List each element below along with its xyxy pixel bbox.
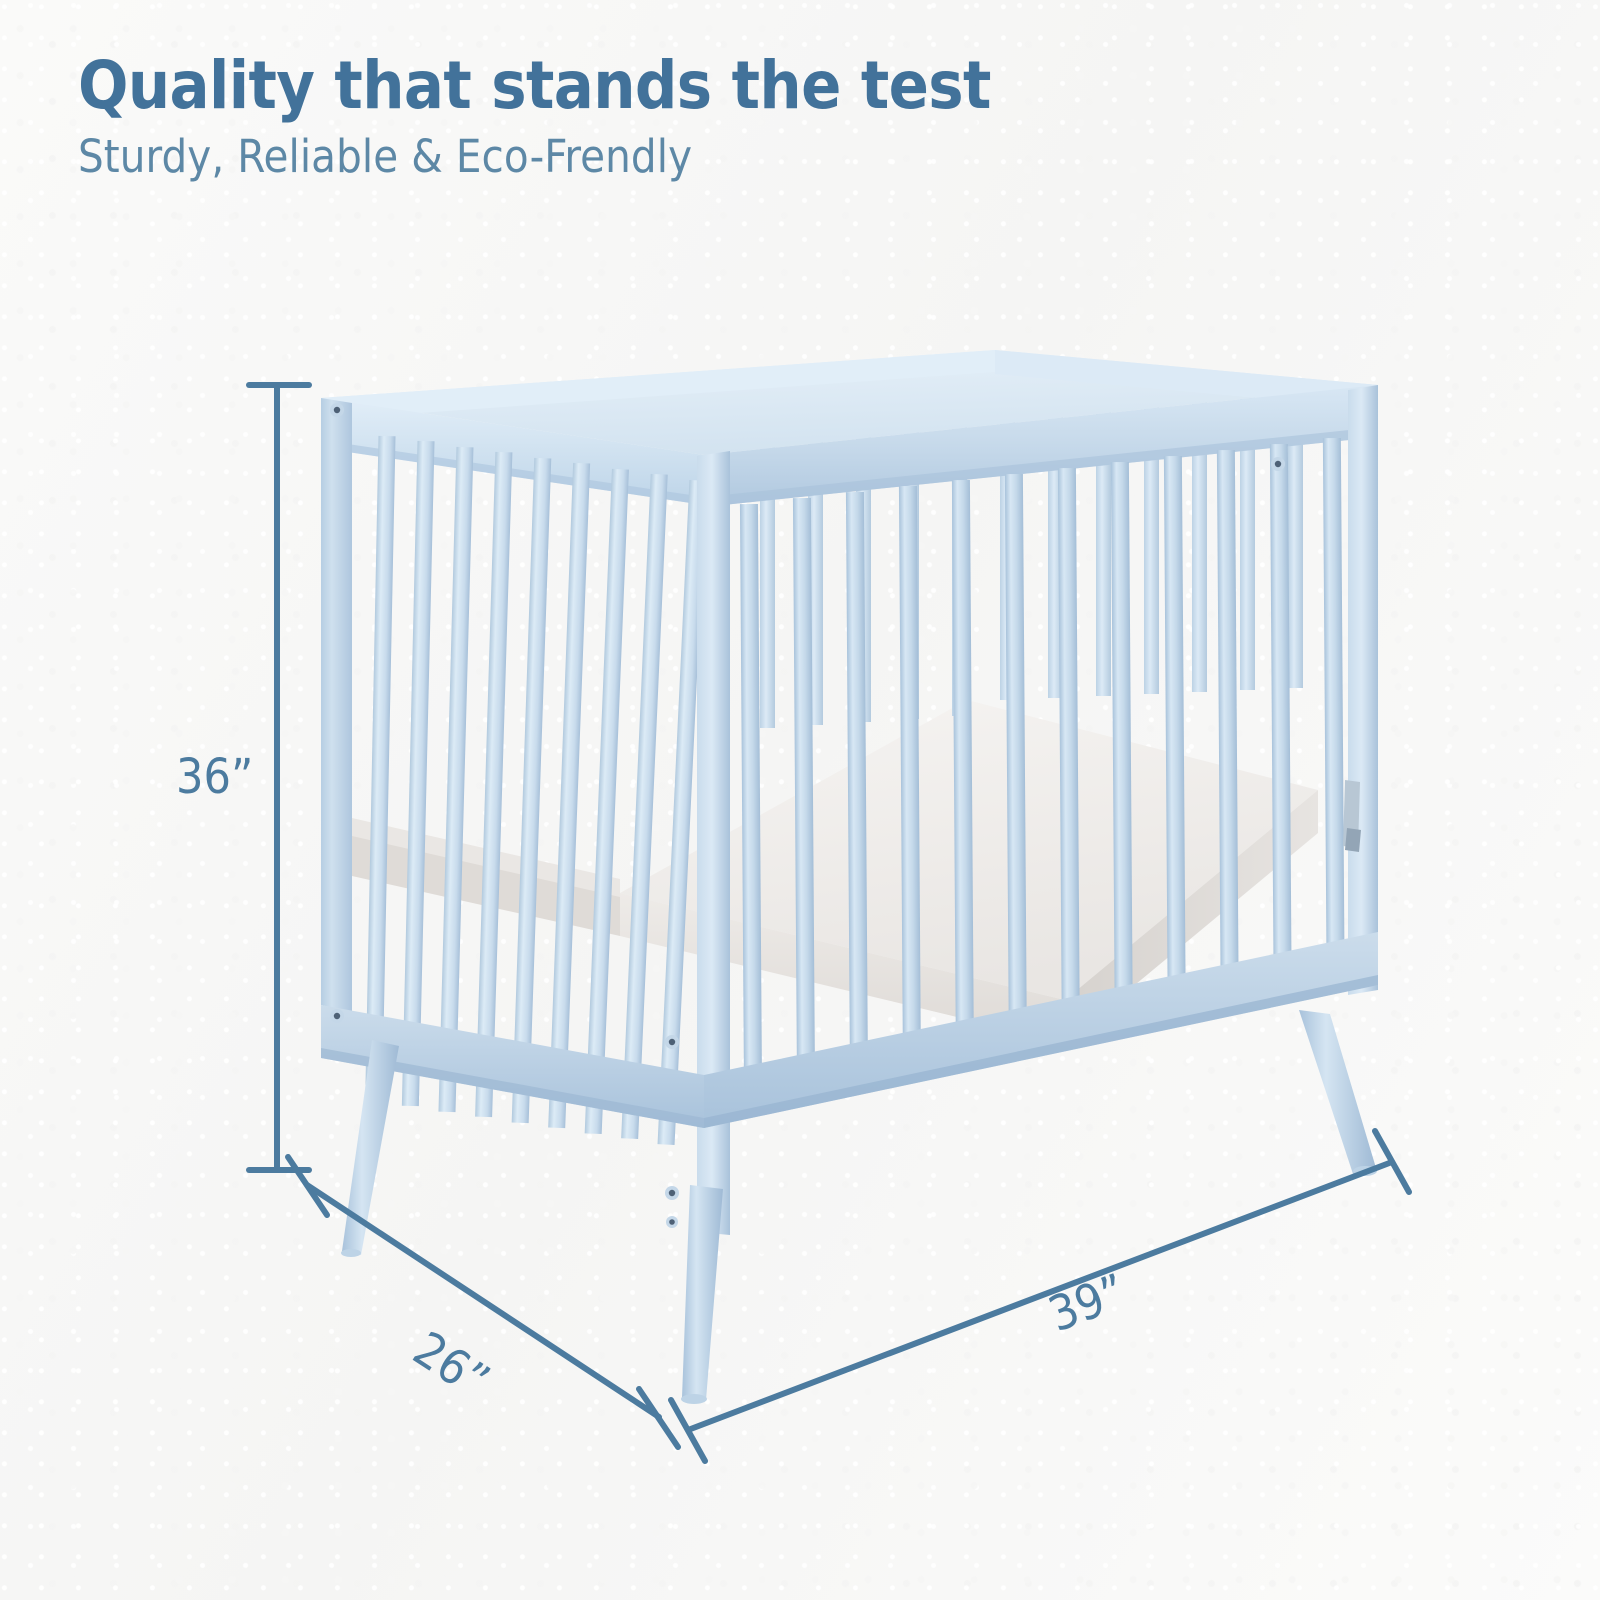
leg-rear-left — [342, 1040, 399, 1255]
dimension-width-39 — [671, 1131, 1409, 1461]
dimension-label-depth: 26” — [403, 1321, 498, 1410]
dimension-label-width: 39” — [1041, 1263, 1133, 1343]
dimension-height-36 — [249, 385, 309, 1170]
dimension-label-height: 36” — [176, 749, 253, 805]
product-illustration-stage: 36” 26” 39” — [0, 0, 1600, 1600]
dimension-depth-26 — [288, 1157, 678, 1447]
post-far-right — [1348, 385, 1378, 995]
post-far-left — [321, 398, 352, 1012]
leg-front-centre — [682, 1185, 723, 1400]
leg-rear-right — [1299, 1010, 1376, 1174]
